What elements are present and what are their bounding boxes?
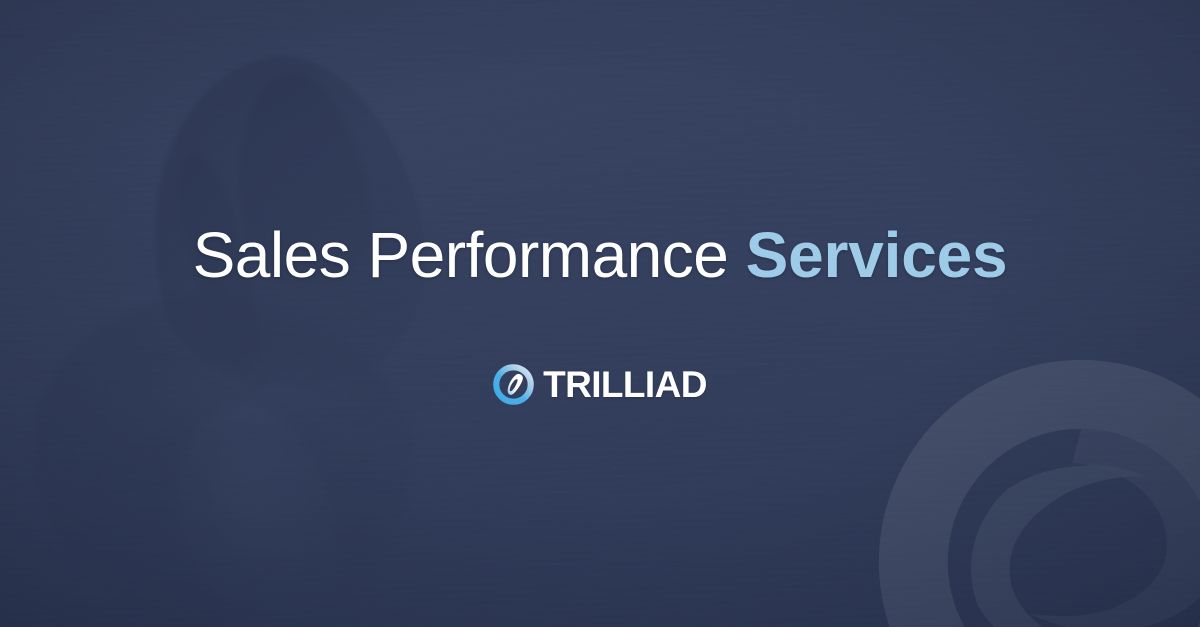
headline-accent: Services — [746, 219, 1008, 291]
headline-primary: Sales Performance — [193, 219, 746, 291]
hero-banner: Sales Performance Services — [0, 0, 1200, 627]
brand-lockup: TRILLIAD — [493, 364, 707, 405]
brand-wordmark: TRILLIAD — [543, 366, 707, 403]
trilliad-swirl-ring-icon — [493, 364, 534, 405]
page-title: Sales Performance Services — [193, 222, 1008, 289]
banner-content: Sales Performance Services — [0, 0, 1200, 627]
